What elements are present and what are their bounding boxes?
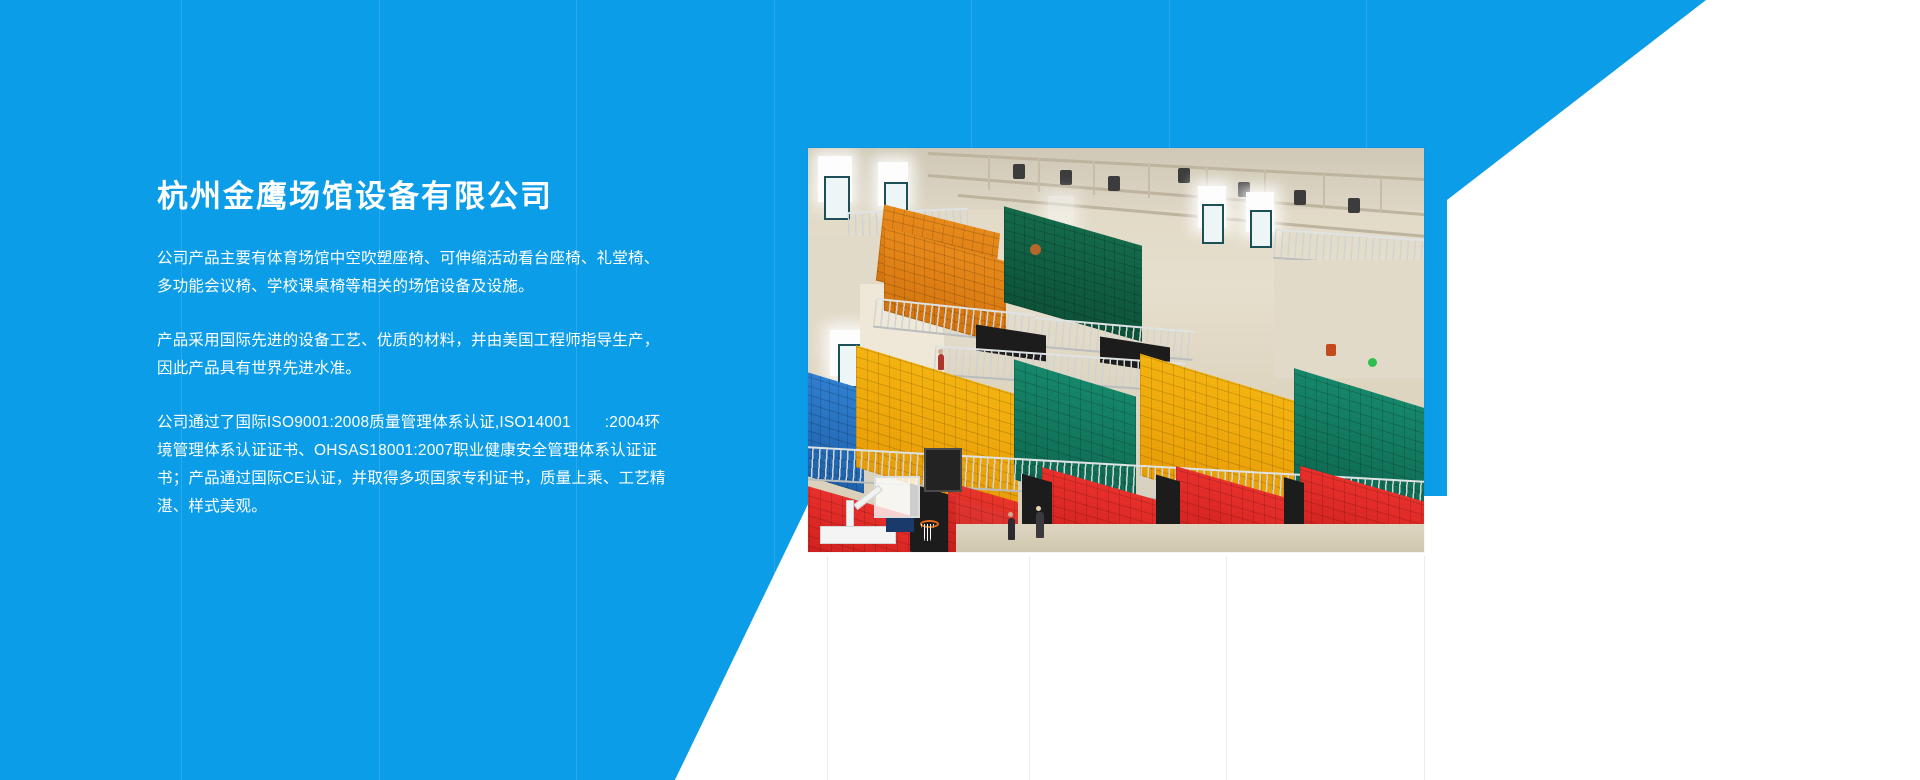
person-head xyxy=(1036,506,1041,511)
person-standing xyxy=(1008,518,1015,540)
intro-paragraph-technology: 产品采用国际先进的设备工艺、优质的材料，并由美国工程师指导生产，因此产品具有世界… xyxy=(157,327,667,383)
ceiling-speaker xyxy=(1013,164,1025,179)
truss-post xyxy=(1093,161,1095,195)
gymnasium-photo xyxy=(808,148,1424,552)
truss-post xyxy=(988,156,990,190)
under-divider-1 xyxy=(827,556,828,780)
intro-paragraph-certifications: 公司通过了国际ISO9001:2008质量管理体系认证,ISO14001:200… xyxy=(157,409,667,521)
ceiling-speaker xyxy=(1108,176,1120,191)
upper-window-pane xyxy=(1250,210,1272,248)
ceiling-speaker xyxy=(1178,168,1190,183)
banner-stage: 杭州金鹰场馆设备有限公司 公司产品主要有体育场馆中空吹塑座椅、可伸缩活动看台座椅… xyxy=(0,0,1920,780)
upper-window-pane xyxy=(824,176,850,220)
person-head xyxy=(938,349,943,354)
person-head xyxy=(1008,512,1013,517)
person-walking xyxy=(1036,512,1044,538)
ceiling-speaker xyxy=(1348,198,1360,213)
company-intro-block: 杭州金鹰场馆设备有限公司 公司产品主要有体育场馆中空吹塑座椅、可伸缩活动看台座椅… xyxy=(157,178,667,521)
exit-indicator-light xyxy=(1368,358,1377,367)
hoop-brand-badge xyxy=(886,518,914,532)
gymnasium-photo-canvas xyxy=(808,148,1424,552)
page-title: 杭州金鹰场馆设备有限公司 xyxy=(157,178,667,215)
ceiling-speaker xyxy=(1294,190,1306,205)
person-upper-level xyxy=(938,354,944,370)
intro-paragraph-products: 公司产品主要有体育场馆中空吹塑座椅、可伸缩活动看台座椅、礼堂椅、多功能会议椅、学… xyxy=(157,245,667,301)
under-divider-4 xyxy=(1424,556,1425,780)
truss-post xyxy=(1148,164,1150,198)
truss-post xyxy=(1038,158,1040,192)
under-divider-3 xyxy=(1226,556,1227,780)
cert-line-first: 公司通过了国际ISO9001:2008质量管理体系认证,ISO14001 xyxy=(157,414,571,431)
basketball-backboard xyxy=(874,476,920,518)
balcony-wall-right xyxy=(1274,260,1424,378)
upper-window-pane xyxy=(1202,204,1224,244)
under-divider-2 xyxy=(1029,556,1030,780)
wall-fixture xyxy=(1326,344,1336,356)
truss-post xyxy=(1380,178,1382,212)
scoreboard xyxy=(924,448,962,492)
ceiling-speaker xyxy=(1060,170,1072,185)
truss-post xyxy=(1323,174,1325,208)
wall-clock xyxy=(1030,244,1041,255)
lower-white-strip xyxy=(808,556,1438,780)
hoop-base xyxy=(820,526,896,544)
court-floor xyxy=(956,524,1424,552)
